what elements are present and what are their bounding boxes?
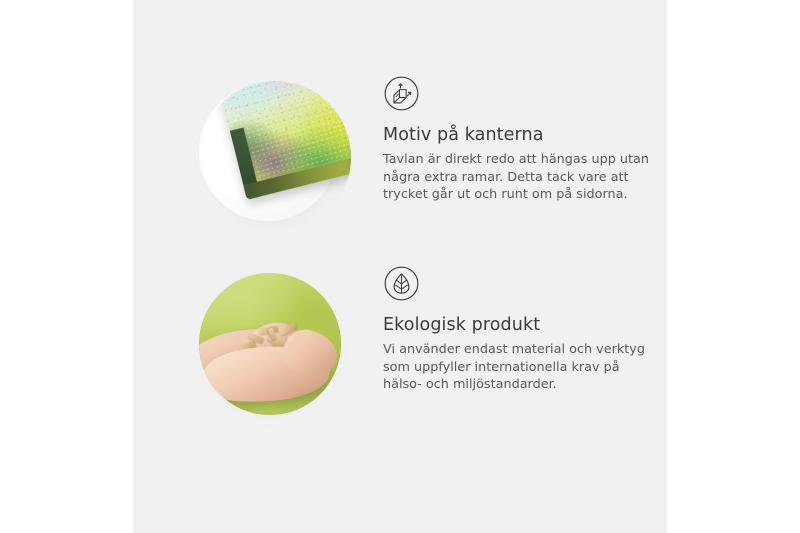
feature-block-eco-product: Ekologisk produkt Vi använder endast mat… (133, 265, 667, 440)
leaf-eco-icon (383, 265, 420, 302)
feature-block-motif-on-edges: Motiv på kanterna Tavlan är direkt redo … (133, 75, 667, 260)
canvas-slab (215, 81, 351, 200)
feature-title: Ekologisk produkt (383, 315, 663, 335)
feature-description: Vi använder endast material och verktyg … (383, 341, 651, 394)
photo-disc (199, 273, 341, 415)
product-feature-banner: Motiv på kanterna Tavlan är direkt redo … (0, 0, 800, 533)
feature-text-column: Motiv på kanterna Tavlan är direkt redo … (383, 75, 663, 204)
canvas-print-corner-photo (199, 83, 341, 225)
hands-holding-wood-chips-photo (199, 273, 341, 415)
feature-title: Motiv på kanterna (383, 125, 663, 145)
feature-text-column: Ekologisk produkt Vi använder endast mat… (383, 265, 663, 394)
feature-description: Tavlan är direkt redo att hängas upp uta… (383, 151, 651, 204)
canvas-photo-clip (199, 81, 351, 233)
canvas-wrapped-edges-icon (383, 75, 420, 112)
